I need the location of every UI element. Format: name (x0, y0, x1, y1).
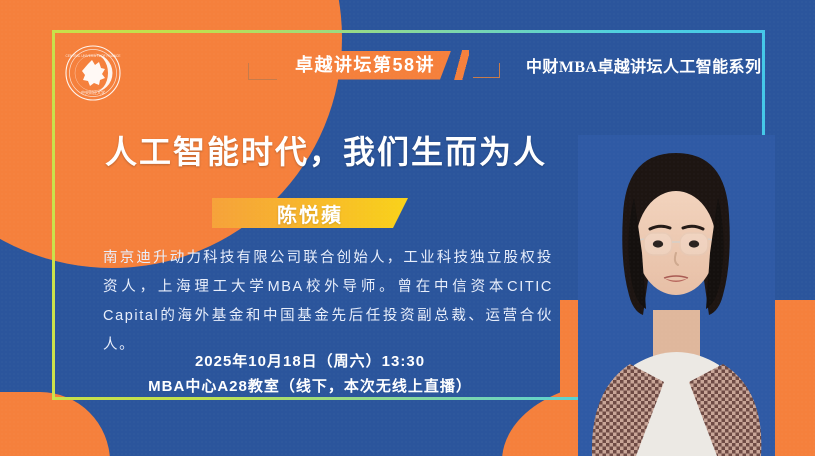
speaker-name: 陈悦蘋 (277, 199, 343, 228)
bracket-left-decoration (248, 63, 277, 80)
page-title: 人工智能时代，我们生而为人 (105, 127, 547, 173)
orange-rounded-decoration-bottom-left (0, 392, 110, 456)
event-info: 2025年10月18日（周六）13:30 MBA中心A28教室（线下，本次无线上… (100, 350, 520, 400)
speaker-bio: 南京迪升动力科技有限公司联合创始人，工业科技独立股权投资人，上海理工大学MBA校… (103, 244, 553, 360)
lecture-number-badge: 卓越讲坛第58讲 (279, 51, 451, 80)
svg-text:CENTRAL UNIVERSITY OF FINANCE: CENTRAL UNIVERSITY OF FINANCE (66, 54, 121, 58)
event-venue: MBA中心A28教室（线下，本次无线上直播） (100, 375, 520, 400)
svg-text:中央财经大学: 中央财经大学 (81, 89, 105, 95)
speaker-name-band: 陈悦蘋 (212, 198, 408, 228)
series-title: 中财MBA卓越讲坛人工智能系列 (526, 53, 761, 77)
slash-decoration (453, 50, 469, 80)
speaker-portrait (578, 135, 775, 456)
university-seal-icon: 中央财经大学 CENTRAL UNIVERSITY OF FINANCE (64, 44, 122, 102)
bracket-right-decoration (473, 63, 500, 78)
event-datetime: 2025年10月18日（周六）13:30 (100, 350, 520, 375)
header-row: 卓越讲坛第58讲 中财MBA卓越讲坛人工智能系列 (248, 48, 761, 82)
event-poster: 中央财经大学 CENTRAL UNIVERSITY OF FINANCE 卓越讲… (0, 0, 815, 456)
